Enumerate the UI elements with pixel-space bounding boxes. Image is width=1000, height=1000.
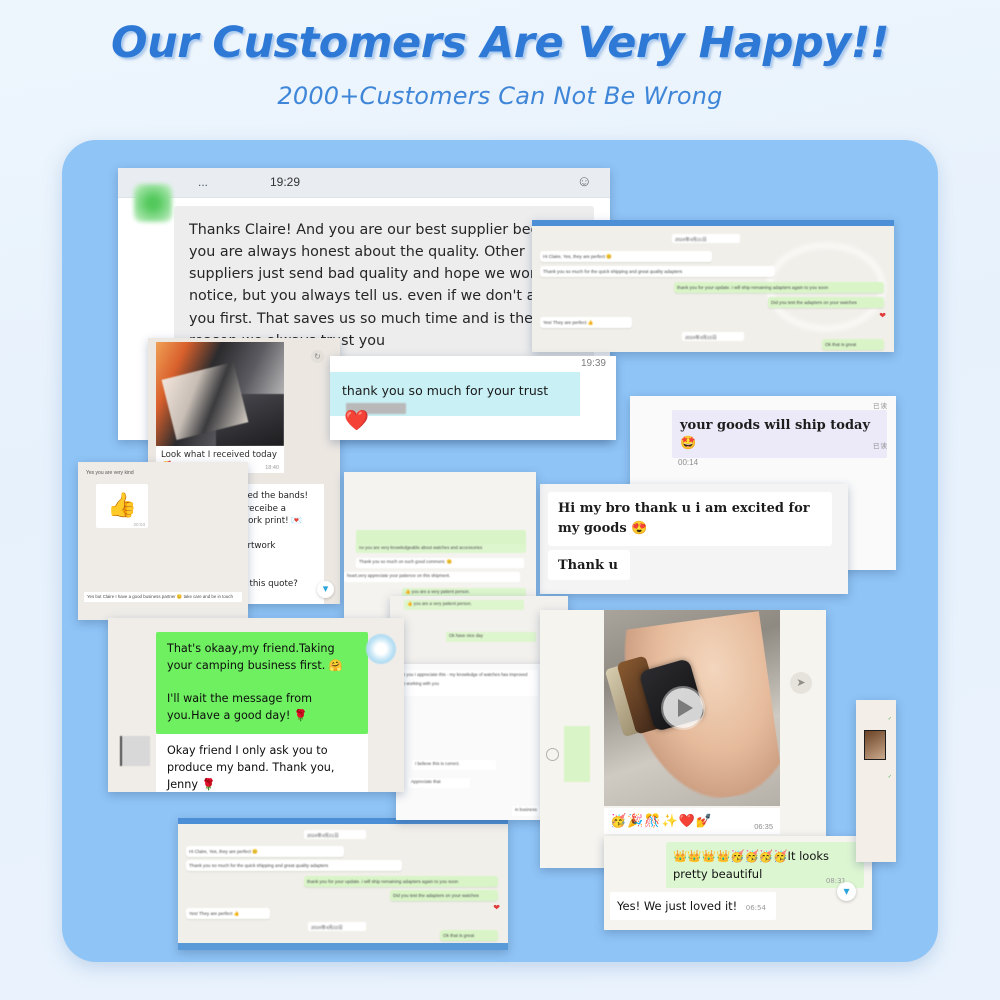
reaction-heart-icon: ❤ [879,311,886,320]
date-stamp: 2024年4月21日 [304,830,366,839]
card-camping-business[interactable]: That's okaay,my friend.Taking your campi… [108,618,404,792]
emoji: 👍 [107,492,137,519]
reaction-heart-icon: ❤ [493,903,500,912]
avatar [120,736,150,766]
chat-message: Did you test the adapters on your watche… [390,890,498,901]
card-adapters-chat-duplicate[interactable]: 2024年4月21日 Hi Claire, Yes, they are perf… [178,818,508,950]
ship-text: your goods will ship today [680,418,870,433]
ship-bubble: your goods will ship today🤩 [672,410,887,458]
card-right-sliver[interactable]: ✓ ✓ [856,700,896,862]
chat-message: Thank you so much on such good comment. … [356,558,524,568]
chat-message: Hi Claire, Yes, they are perfect 😊 [186,846,344,857]
chat-message: 👍 you are a very patient person. [404,600,524,610]
thumbnail-image [864,730,886,760]
page-subtitle: 2000+Customers Can Not Be Wrong [0,68,1000,110]
chat-footer [178,943,508,950]
received-bands-photo [156,342,284,446]
emoji-reply-bubble: 🥳🎉🎊✨❤️💅 06:35 [604,808,780,834]
chat-message: I believe this is correct. [412,760,496,770]
chat-message: Thank you so much for the quick shipping… [186,860,402,871]
emoji-row: 🥳🎉🎊✨❤️💅 [610,813,713,828]
chat-message: thank you for your update. i will ship r… [674,282,884,293]
caption-time: 18:40 [265,465,279,471]
date-stamp: 2024年4月22日 [682,332,744,341]
message-text: Thanks Claire! And you are our best supp… [189,219,579,352]
white-message-text: Okay friend I only ask you to produce my… [167,743,357,792]
chat-message: Ok have nice day [446,632,536,642]
check-icon: ✓ [888,716,892,722]
page-title: Our Customers Are Very Happy!! [0,0,1000,68]
chat-header: ... 19:29 ☺ [118,168,610,198]
ship-emoji: 🤩 [680,436,696,451]
play-icon[interactable] [663,688,703,728]
bottom-message: Yes but Claire I have a good business pa… [84,592,242,602]
top-message: Yes you are very kind [86,470,134,476]
trust-text: thank you so much for your trust [342,383,548,398]
card-adapters-chat[interactable]: 2024年4月21日 Hi Claire, Yes, they are perf… [532,220,894,352]
thanku-text: Thank u [558,558,618,573]
chat-message: Appreciate that [408,778,470,788]
green-message-bubble: 👑👑👑👑🥳🥳🥳🥳It looks pretty beautiful 08:31 [666,842,864,888]
message-time: 06:35 [754,822,773,831]
chat-message: Thank you so much for the quick shipping… [540,266,775,277]
adjacent-chat-sliver [564,726,590,782]
date-stamp: 2024年4月22日 [308,922,366,931]
check-icon: ✓ [888,774,892,780]
excited-text: Hi my bro thank u i am excited for my go… [558,501,810,536]
excited-bubble: Hi my bro thank u i am excited for my go… [548,492,832,546]
message-time: 19:29 [270,175,300,189]
chat-message: Ok that is great [440,930,498,941]
heart-reaction-icon: ❤️ [344,408,369,433]
card-excited-goods[interactable]: Hi my bro thank u i am excited for my go… [540,484,848,594]
chevron-down-icon[interactable]: ▾ [837,882,856,901]
chat-message: Thank you I appreciate this - my knowled… [396,670,538,696]
white-message-bubble: Okay friend I only ask you to produce my… [156,734,368,792]
date-stamp: 2024年4月21日 [672,234,740,243]
chat-message: Did you test the adapters on your watche… [768,297,884,308]
sticker-icon [366,634,396,664]
refresh-icon[interactable]: ↻ [311,350,324,363]
green-message-text: 👑👑👑👑🥳🥳🥳🥳It looks pretty beautiful [673,849,829,881]
chat-titlebar [532,220,894,226]
chat-message: no you are very knowledgeable about watc… [356,544,526,553]
white-message-time: 06:54 [746,904,766,912]
card-thumbs-up[interactable]: Yes you are very kind 👍 20:03 Yes but Cl… [78,462,248,620]
chat-message: Yes! They are perfect 👍 [186,908,270,919]
chat-message: thank you for your update. i will ship r… [304,876,498,887]
green-message-bubble: That's okaay,my friend.Taking your campi… [156,632,368,734]
read-receipt: 已读 [873,400,888,410]
caption-text: Look what I received today [161,450,279,460]
message-time: 00:14 [678,458,698,467]
smiley-icon: ☺ [577,173,592,190]
chat-message: Yes! They are perfect 👍 [540,317,632,328]
forward-icon[interactable]: ➤ [790,672,812,694]
chat-message: heart,very appreciate your patience on t… [344,572,520,582]
card-video-review[interactable]: ➤ 🥳🎉🎊✨❤️💅 06:35 [540,610,826,868]
card-trust-banner[interactable]: 19:39 thank you so much for your trust ❤… [330,356,616,440]
header: Our Customers Are Very Happy!! 2000+Cust… [0,0,1000,110]
green-message-text: That's okaay,my friend.Taking your campi… [167,641,357,725]
chat-message: Hi Claire, Yes, they are perfect 😊 [540,251,712,262]
white-message-bubble: Yes! We just loved it! 06:54 [610,892,776,920]
contact-label: ... [198,175,208,189]
avatar [134,184,172,222]
read-receipt: 已读 [873,440,888,450]
card-pretty-beautiful[interactable]: 👑👑👑👑🥳🥳🥳🥳It looks pretty beautiful 08:31 … [604,836,872,930]
chat-message: Ok that is great [822,339,884,350]
thumbs-up-icon: 👍 20:03 [96,484,148,528]
message-time: 19:39 [581,358,606,369]
testimonial-collage: Our Customers Are Very Happy!! 2000+Cust… [0,0,1000,1000]
message-time: 20:03 [134,522,146,528]
status-ring-icon [546,748,559,761]
excited-emoji: 😍 [631,521,647,536]
thanku-bubble: Thank u [548,550,630,580]
white-message-text: Yes! We just loved it! [617,899,737,913]
chevron-down-icon[interactable]: ▾ [317,581,334,598]
